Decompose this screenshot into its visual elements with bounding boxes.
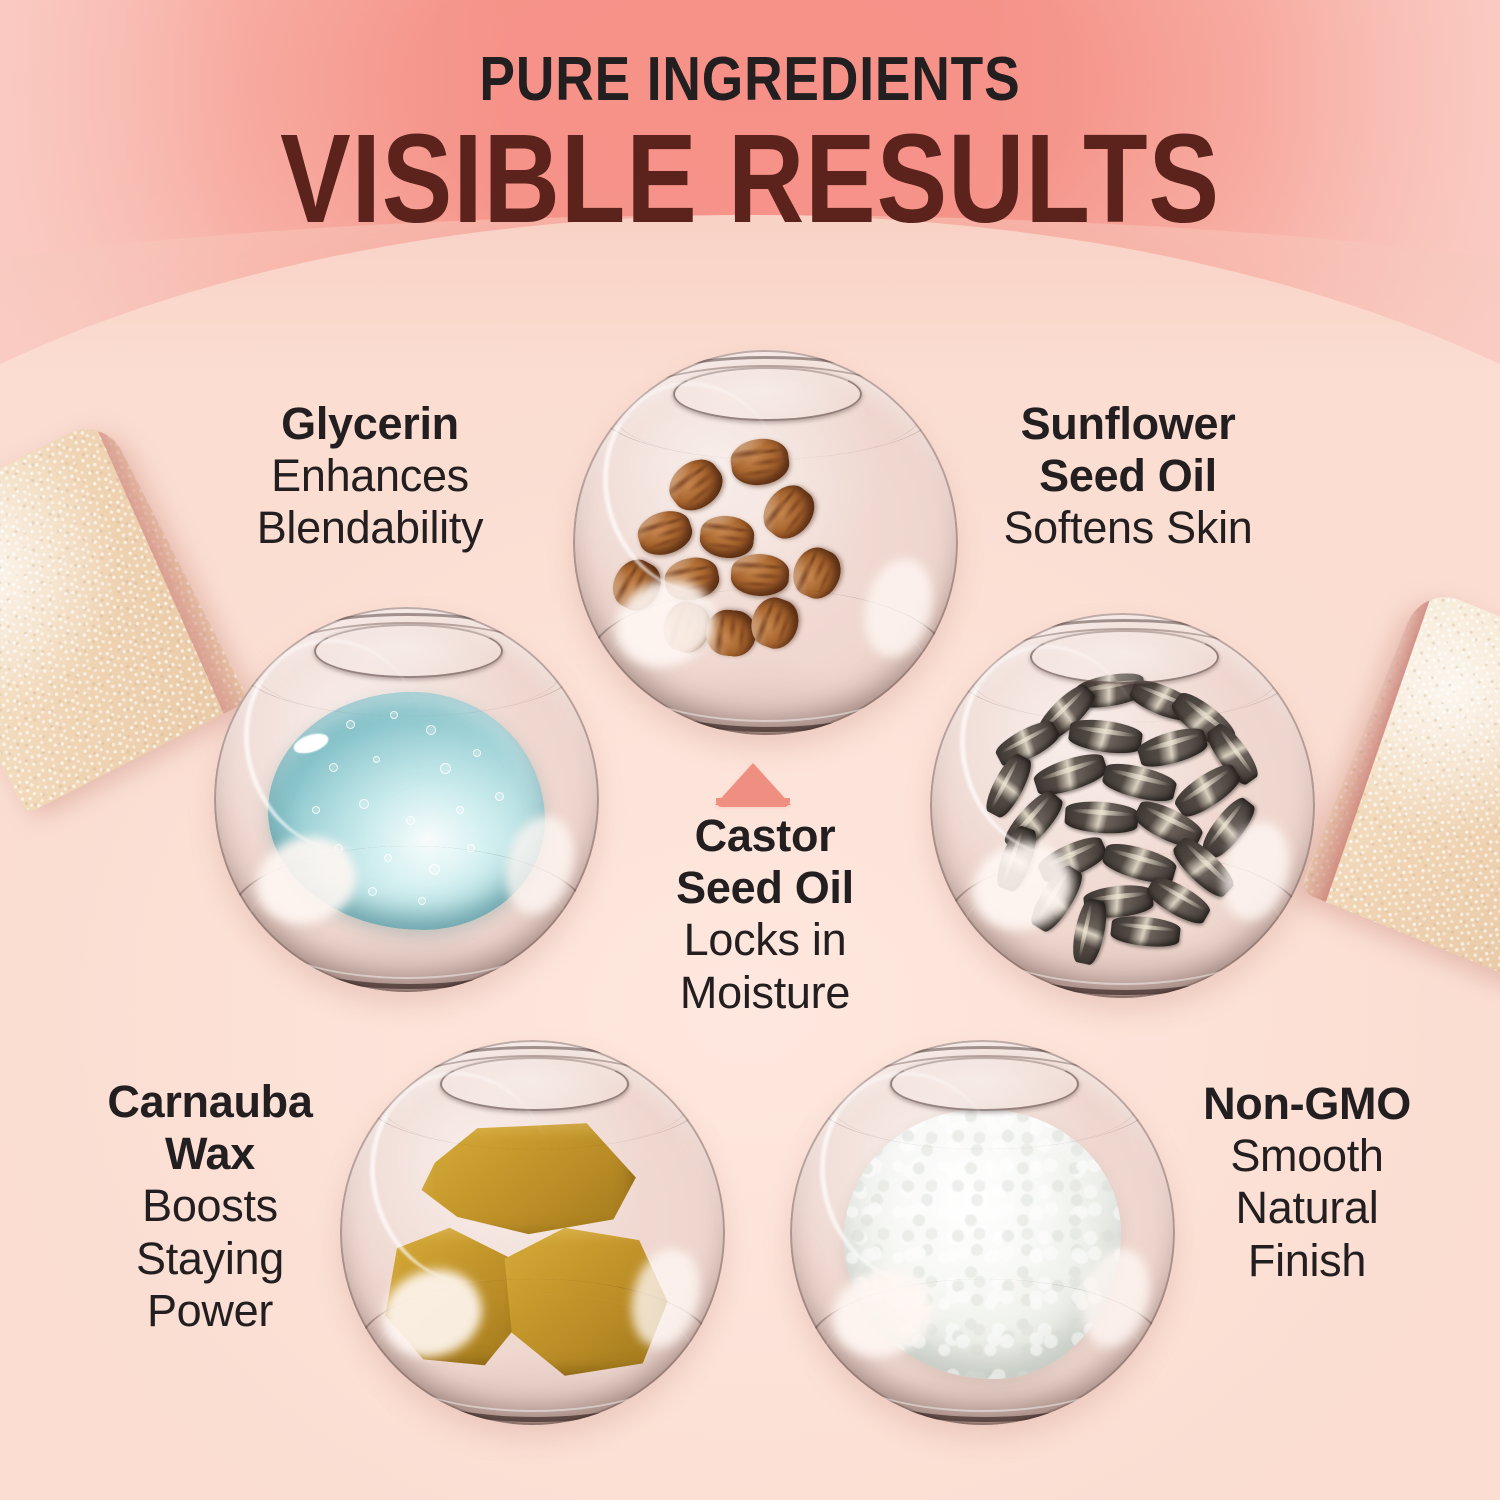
ingredient-sphere-carnauba-wax <box>340 1040 725 1425</box>
headline-block: PURE INGREDIENTS VISIBLE RESULTS <box>0 48 1500 244</box>
infographic-canvas: PURE INGREDIENTS VISIBLE RESULTS <box>0 0 1500 1500</box>
ingredient-name: Carnauba <box>40 1076 380 1128</box>
ingredient-benefit-line: Smooth <box>1122 1130 1492 1182</box>
headline-line-1: PURE INGREDIENTS <box>105 48 1395 111</box>
ingredient-label-carnauba-wax: Carnauba Wax Boosts Staying Power <box>40 1076 380 1337</box>
ingredient-label-glycerin: Glycerin Enhances Blendability <box>166 398 574 555</box>
ingredient-benefit-line: Moisture <box>600 967 930 1019</box>
ingredient-benefit-line: Blendability <box>166 502 574 554</box>
ingredient-sphere-non-gmo <box>790 1040 1175 1425</box>
ingredient-benefit-line: Staying <box>40 1233 380 1285</box>
ingredient-sphere-castor-seed-oil <box>573 350 958 735</box>
ingredient-benefit-line: Power <box>40 1285 380 1337</box>
ingredient-name: Sunflower <box>928 398 1328 450</box>
ingredient-name: Glycerin <box>166 398 574 450</box>
headline-line-2: VISIBLE RESULTS <box>120 115 1380 244</box>
ingredient-label-sunflower-seed-oil: Sunflower Seed Oil Softens Skin <box>928 398 1328 555</box>
glass-ball <box>930 613 1315 998</box>
ingredient-benefit-line: Finish <box>1122 1235 1492 1287</box>
glass-ball <box>790 1040 1175 1425</box>
ingredient-label-castor-seed-oil: Castor Seed Oil Locks in Moisture <box>600 810 930 1019</box>
ingredient-benefit-line: Boosts <box>40 1180 380 1232</box>
glass-ball <box>340 1040 725 1425</box>
ingredient-benefit-line: Softens Skin <box>928 502 1328 554</box>
ingredient-sphere-glycerin <box>214 607 599 992</box>
castor-pointer-base <box>716 798 790 807</box>
ingredient-name: Seed Oil <box>928 450 1328 502</box>
glass-ball <box>214 607 599 992</box>
ingredient-label-non-gmo: Non-GMO Smooth Natural Finish <box>1122 1078 1492 1287</box>
ingredient-name: Non-GMO <box>1122 1078 1492 1130</box>
glass-ball <box>573 350 958 735</box>
ingredient-sphere-sunflower-seed-oil <box>930 613 1315 998</box>
ingredient-benefit-line: Locks in <box>600 914 930 966</box>
ingredient-name: Wax <box>40 1128 380 1180</box>
ingredient-benefit-line: Natural <box>1122 1182 1492 1234</box>
ingredient-name: Castor <box>600 810 930 862</box>
ingredient-name: Seed Oil <box>600 862 930 914</box>
ingredient-benefit-line: Enhances <box>166 450 574 502</box>
